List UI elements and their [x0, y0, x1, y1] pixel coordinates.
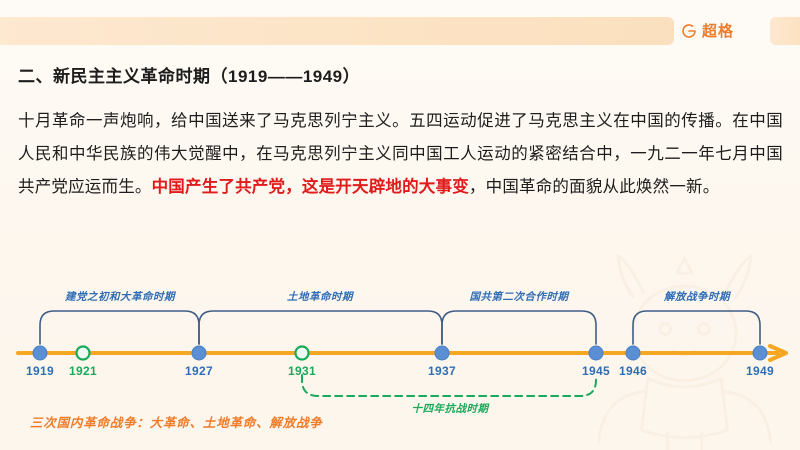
timeline-dashed-bracket	[302, 375, 596, 396]
timeline-year-label: 1921	[69, 364, 97, 378]
timeline-year-label: 1937	[428, 364, 456, 378]
timeline-dashed-period-label: 十四年抗战时期	[412, 401, 489, 416]
timeline-year-label: 1927	[185, 364, 213, 378]
slide-canvas: 超格 二、新民主主义革命时期（1919——1949） 十月革命一声炮响，给中国送…	[0, 0, 800, 450]
timeline-year-label: 1945	[582, 364, 610, 378]
paragraph-part-2: ，中国革命的面貌从此焕然一新。	[469, 178, 720, 196]
timeline-period-label: 国共第二次合作时期	[470, 289, 569, 304]
timeline-year-label: 1949	[746, 364, 774, 378]
header-band-left	[0, 17, 674, 45]
timeline-period-label: 解放战争时期	[664, 289, 730, 304]
g-circle-logo-icon	[681, 23, 697, 39]
page-title: 二、新民主主义革命时期（1919——1949）	[18, 62, 360, 87]
footnote-text: 三次国内革命战争：大革命、土地革命、解放战争	[30, 412, 323, 431]
paragraph-highlight: 中国产生了共产党，这是开天辟地的大事变	[152, 178, 469, 196]
timeline-year-label: 1919	[26, 364, 54, 378]
timeline-period-label: 建党之初和大革命时期	[65, 289, 175, 304]
body-paragraph: 十月革命一声炮响，给中国送来了马克思列宁主义。五四运动促进了马克思主义在中国的传…	[18, 105, 783, 204]
header-band-right	[770, 17, 800, 45]
timeline-year-label: 1946	[619, 364, 647, 378]
timeline-year-label: 1931	[288, 364, 316, 378]
timeline-brackets	[40, 311, 760, 344]
brand-logo: 超格	[681, 20, 734, 42]
timeline-axis	[18, 346, 786, 360]
timeline-period-label: 土地革命时期	[287, 289, 353, 304]
brand-name: 超格	[702, 24, 734, 39]
